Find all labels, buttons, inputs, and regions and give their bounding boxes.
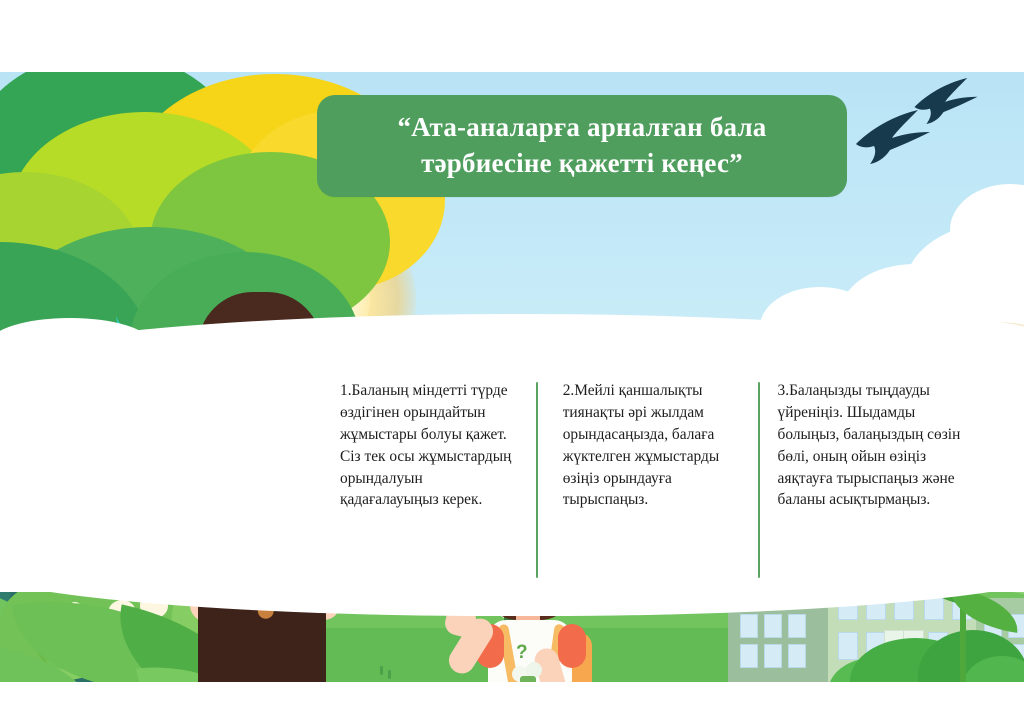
title-line-1: “Ата-аналарға арналған бала xyxy=(397,112,766,142)
school-window xyxy=(764,644,782,668)
tip-text-1: 1.Баланың міндетті түрде өздігінен орынд… xyxy=(340,380,523,511)
tips-columns: 1.Баланың міндетті түрде өздігінен орынд… xyxy=(340,380,992,580)
panel-top-curve xyxy=(0,318,150,368)
sleeve-right xyxy=(558,624,586,668)
shirt-print-letter: ? xyxy=(516,642,528,664)
column-divider xyxy=(536,382,538,578)
grass-tuft xyxy=(380,666,383,675)
tip-column-3: 3.Балаңызды тыңдауды үйреніңіз. Шыдамды … xyxy=(756,380,992,580)
poster-canvas: ? 1.Баланың міндетті түр xyxy=(0,0,1024,724)
grass-tuft xyxy=(388,670,391,679)
panel-top-curve xyxy=(880,320,1024,368)
school-window xyxy=(764,614,782,638)
swallow-bird-icon xyxy=(910,78,982,124)
tip-text-3: 3.Балаңызды тыңдауды үйреніңіз. Шыдамды … xyxy=(778,380,974,511)
page-title: “Ата-аналарға арналған балатәрбиесіне қа… xyxy=(397,110,766,181)
top-white-margin xyxy=(0,0,1024,72)
title-line-2: тәрбиесіне қажетті кеңес” xyxy=(421,148,743,178)
tip-text-2: 2.Мейлі қаншалықты тиянақты әрі жылдам о… xyxy=(563,380,738,511)
school-window xyxy=(740,644,758,668)
school-window xyxy=(788,644,806,668)
school-window xyxy=(788,614,806,638)
bottom-white-margin xyxy=(0,682,1024,724)
shirt-print: ? xyxy=(508,642,552,682)
tip-column-1: 1.Баланың міндетті түрде өздігінен орынд… xyxy=(340,380,541,580)
title-card: “Ата-аналарға арналған балатәрбиесіне қа… xyxy=(317,95,847,197)
column-divider xyxy=(758,382,760,578)
tip-column-2: 2.Мейлі қаншалықты тиянақты әрі жылдам о… xyxy=(541,380,756,580)
content-panel: 1.Баланың міндетті түрде өздігінен орынд… xyxy=(0,344,1024,592)
school-window xyxy=(740,614,758,638)
school-window xyxy=(838,632,858,660)
